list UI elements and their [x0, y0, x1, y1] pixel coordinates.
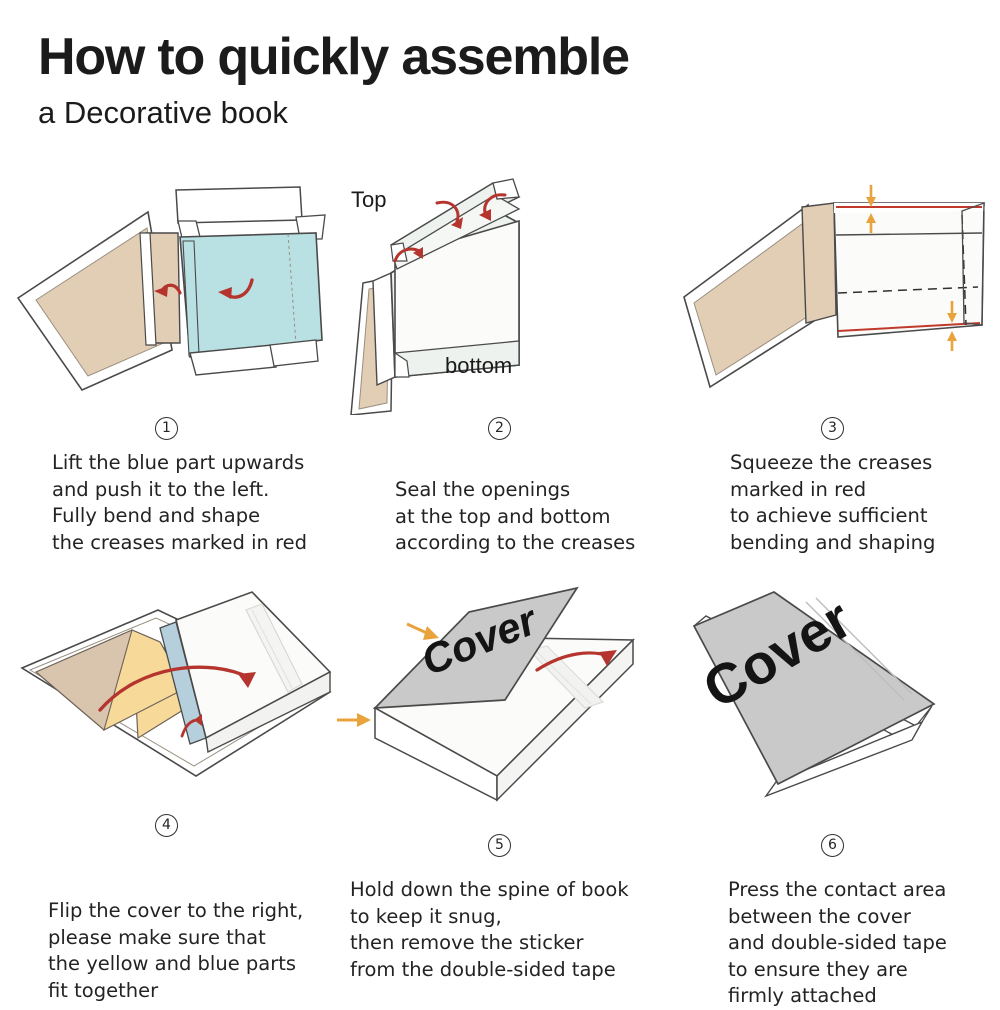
steps-row-bottom: 4 Flip the cover to the right, please ma…	[0, 580, 1000, 995]
steps-row-top: 1 Lift the blue part upwards and push it…	[0, 165, 1000, 580]
figure-step-2-sealing-openings: Top bottom	[333, 165, 666, 415]
figure-step-4-flip-cover	[0, 580, 333, 815]
step-1: 1 Lift the blue part upwards and push it…	[0, 165, 333, 580]
orange-arrow-icon-left-lower	[337, 713, 371, 727]
figure-step-3-squeeze-creases	[666, 165, 999, 415]
figure-step-5-remove-sticker: Cover	[333, 580, 666, 815]
top-flaps	[176, 187, 325, 239]
step-number-2-glyph: 2	[488, 417, 511, 440]
figure-step-1-unfolded-blue-panel	[0, 165, 333, 415]
page-subtitle: a Decorative book	[38, 94, 938, 132]
label-top: Top	[351, 187, 386, 212]
step-4: 4 Flip the cover to the right, please ma…	[0, 580, 333, 995]
step-4-caption: Flip the cover to the right, please make…	[48, 898, 303, 1004]
step-2-caption: Seal the openings at the top and bottom …	[395, 477, 635, 557]
step-number-3-glyph: 3	[821, 417, 844, 440]
spine-strip	[802, 203, 836, 323]
step-1-caption: Lift the blue part upwards and push it t…	[52, 450, 307, 556]
left-beige-panel	[684, 205, 814, 387]
step-number-4-glyph: 4	[155, 814, 178, 837]
step-number-6: 6	[666, 830, 999, 857]
label-bottom: bottom	[445, 353, 512, 378]
step-3-caption: Squeeze the creases marked in red to ach…	[730, 450, 935, 556]
closed-book: Cover	[693, 586, 935, 796]
step-6-caption: Press the contact area between the cover…	[728, 877, 947, 1010]
step-6: Cover 6 Press the contact area between t…	[666, 580, 999, 995]
figure-step-6-finished-book: Cover	[666, 580, 999, 815]
step-number-1-glyph: 1	[155, 417, 178, 440]
right-body	[834, 203, 986, 337]
step-number-1: 1	[0, 413, 333, 440]
step-5-caption: Hold down the spine of book to keep it s…	[350, 877, 629, 983]
step-3: 3 Squeeze the creases marked in red to a…	[666, 165, 999, 580]
step-number-5: 5	[333, 830, 666, 857]
blue-panel	[180, 233, 322, 357]
step-number-3: 3	[666, 413, 999, 440]
page-title: How to quickly assemble	[38, 28, 938, 86]
step-5: Cover	[333, 580, 666, 995]
step-number-4: 4	[0, 810, 333, 837]
step-2: Top bottom 2 Seal the openings at the to…	[333, 165, 666, 580]
step-number-6-glyph: 6	[821, 834, 844, 857]
steps-container: 1 Lift the blue part upwards and push it…	[0, 165, 1000, 995]
page-header: How to quickly assemble a Decorative boo…	[38, 28, 938, 132]
step-number-5-glyph: 5	[488, 834, 511, 857]
step-number-2: 2	[333, 413, 666, 440]
